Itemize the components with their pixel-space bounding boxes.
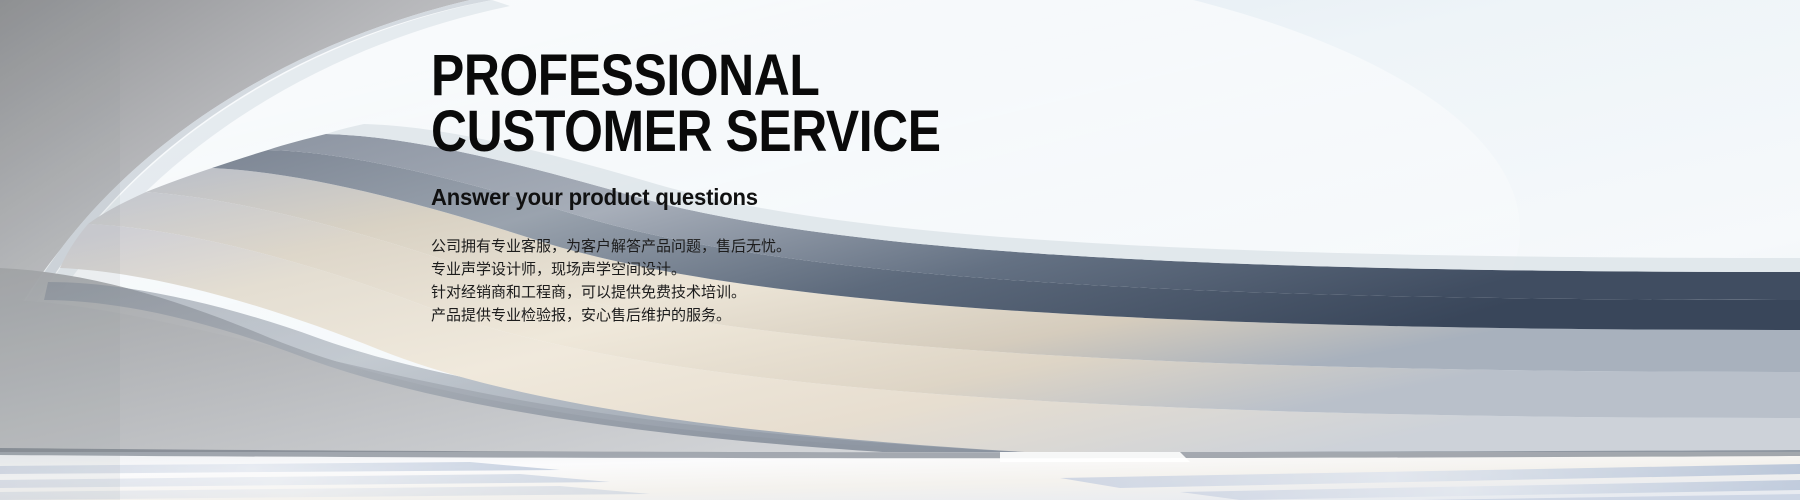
subtitle: Answer your product questions	[431, 161, 1295, 211]
body-copy: 公司拥有专业客服，为客户解答产品问题，售后无忧。 专业声学设计师，现场声学空间设…	[431, 211, 1331, 327]
left-vignette	[0, 0, 120, 500]
body-line-3: 针对经销商和工程商，可以提供免费技术培训。	[431, 281, 1331, 304]
banner-hero: PROFESSIONAL CUSTOMER SERVICE Answer you…	[0, 0, 1800, 500]
body-line-2: 专业声学设计师，现场声学空间设计。	[431, 258, 1331, 281]
banner-content: PROFESSIONAL CUSTOMER SERVICE Answer you…	[431, 48, 1331, 327]
body-line-4: 产品提供专业检验报，安心售后维护的服务。	[431, 304, 1331, 327]
headline-line-2: CUSTOMER SERVICE	[431, 104, 1205, 160]
body-line-1: 公司拥有专业客服，为客户解答产品问题，售后无忧。	[431, 235, 1331, 258]
page-title: PROFESSIONAL CUSTOMER SERVICE	[431, 48, 1205, 161]
floor-pillar-shadow	[1000, 452, 1190, 462]
headline-line-1: PROFESSIONAL	[431, 43, 819, 108]
